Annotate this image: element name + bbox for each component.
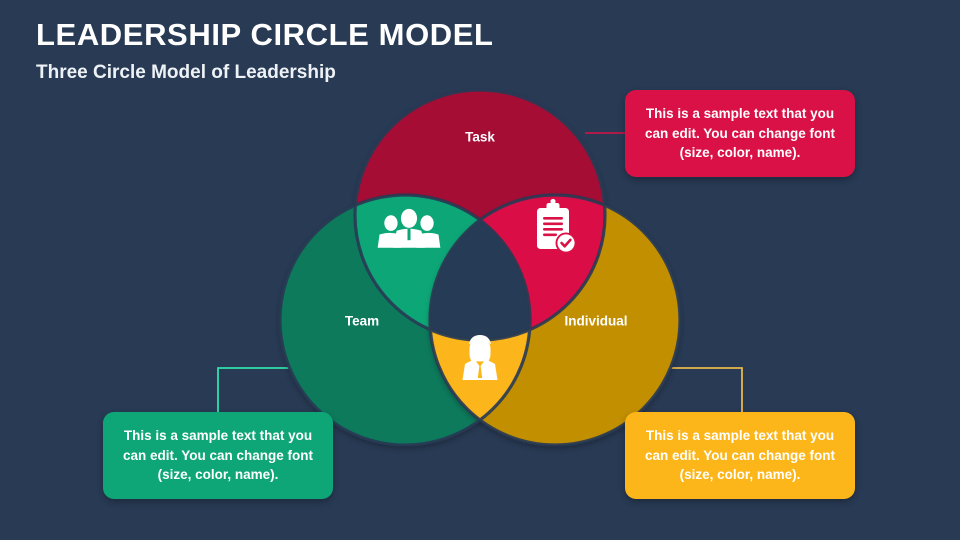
callout-individual[interactable]: This is a sample text that you can edit.… xyxy=(625,412,855,499)
callout-task-text: This is a sample text that you can edit.… xyxy=(639,104,841,163)
callout-team[interactable]: This is a sample text that you can edit.… xyxy=(103,412,333,499)
callout-team-text: This is a sample text that you can edit.… xyxy=(117,426,319,485)
callout-individual-text: This is a sample text that you can edit.… xyxy=(639,426,841,485)
label-team: Team xyxy=(345,314,379,329)
slide-canvas: LEADERSHIP CIRCLE MODEL Three Circle Mod… xyxy=(0,0,960,540)
label-task: Task xyxy=(465,130,495,145)
callout-task[interactable]: This is a sample text that you can edit.… xyxy=(625,90,855,177)
label-individual: Individual xyxy=(564,314,627,329)
